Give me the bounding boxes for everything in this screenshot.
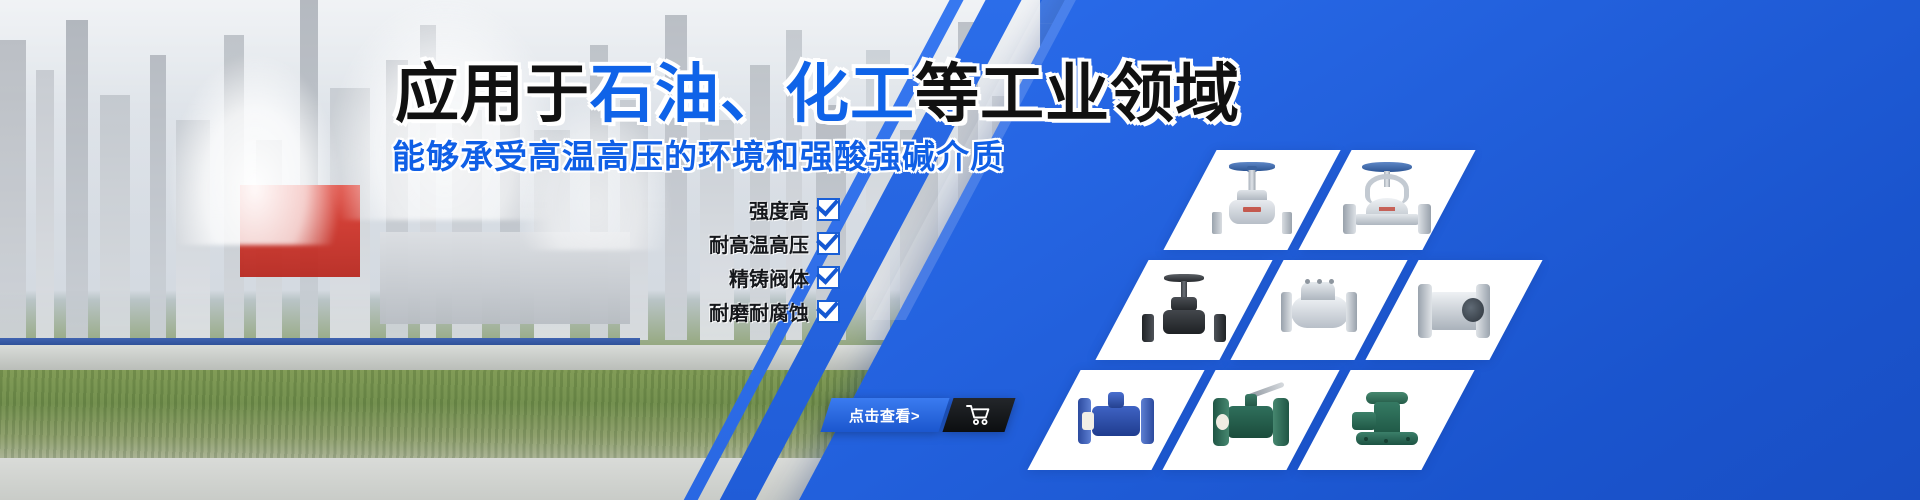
view-details-button[interactable]: 点击查看> bbox=[820, 398, 949, 432]
feature-item: 耐磨耐腐蚀 bbox=[709, 297, 840, 326]
globe-valve-image bbox=[1325, 150, 1449, 250]
feature-item: 耐高温高压 bbox=[709, 229, 840, 258]
base-bolt bbox=[1406, 437, 1410, 441]
valve-body bbox=[1291, 296, 1349, 328]
valve-lining bbox=[1082, 412, 1094, 430]
valve-flange-left bbox=[1418, 284, 1432, 338]
cta-label: 点击查看> bbox=[849, 405, 920, 426]
checkbox-checked-icon bbox=[817, 300, 840, 323]
valve-pipe bbox=[1355, 214, 1419, 225]
cover-bolt bbox=[1305, 279, 1310, 284]
headline-part-1: 应用于 bbox=[395, 58, 590, 130]
base-bolt bbox=[1384, 439, 1388, 443]
valve-body bbox=[1092, 406, 1140, 436]
shopping-cart-icon bbox=[966, 404, 992, 426]
checkbox-checked-icon bbox=[817, 198, 840, 221]
checkbox-checked-icon bbox=[817, 266, 840, 289]
gate-valve-handwheel-image bbox=[1190, 150, 1314, 250]
cart-button[interactable] bbox=[942, 398, 1015, 432]
feature-checklist: 强度高 耐高温高压 精铸阀体 耐磨耐腐蚀 bbox=[640, 195, 840, 326]
lever-ball-valve-image bbox=[1189, 370, 1313, 470]
feature-item: 精铸阀体 bbox=[729, 263, 840, 292]
feature-label: 耐高温高压 bbox=[709, 229, 809, 258]
banner-headline: 应用于石油、化工等工业领域 bbox=[395, 62, 1240, 126]
feature-label: 耐磨耐腐蚀 bbox=[709, 297, 809, 326]
cover-bolt bbox=[1317, 279, 1322, 284]
promo-banner: 应用于石油、化工等工业领域 能够承受高温高压的环境和强酸强碱介质 强度高 耐高温… bbox=[0, 0, 1920, 500]
feature-item: 强度高 bbox=[749, 195, 840, 224]
forged-gate-valve-image bbox=[1122, 260, 1246, 360]
valve-lining bbox=[1216, 414, 1229, 430]
valve-body bbox=[1163, 310, 1205, 334]
feature-label: 强度高 bbox=[749, 195, 809, 224]
valve-stem bbox=[1249, 170, 1256, 192]
side-actuator bbox=[1352, 412, 1376, 430]
valve-flange-right bbox=[1273, 398, 1289, 446]
valve-bonnet bbox=[1171, 297, 1197, 311]
valve-cover bbox=[1301, 282, 1335, 300]
feature-label: 精铸阀体 bbox=[729, 263, 809, 292]
valve-bore bbox=[1462, 298, 1484, 322]
base-bolt bbox=[1364, 437, 1368, 441]
valve-column bbox=[1374, 402, 1400, 436]
product-tile-grid bbox=[1040, 150, 1470, 490]
steam-plume bbox=[170, 55, 340, 245]
valve-flange-right bbox=[1214, 314, 1226, 342]
valve-body bbox=[1227, 406, 1273, 438]
swing-check-valve-image bbox=[1257, 260, 1381, 360]
valve-flange-left bbox=[1142, 314, 1154, 342]
headline-highlight: 石油、化工 bbox=[590, 58, 915, 130]
headline-part-3: 等工业领域 bbox=[915, 58, 1240, 130]
valve-flange-left bbox=[1212, 212, 1222, 234]
valve-flange-right bbox=[1346, 292, 1357, 332]
valve-flange-left bbox=[1281, 292, 1292, 332]
cta-button-group[interactable]: 点击查看> bbox=[826, 398, 1010, 432]
lined-ball-valve-image bbox=[1054, 370, 1178, 470]
valve-flange-left bbox=[1343, 204, 1356, 234]
flanged-riser-valve-image bbox=[1324, 370, 1448, 470]
valve-flange-right bbox=[1141, 398, 1154, 444]
cover-bolt bbox=[1329, 279, 1334, 284]
checkbox-checked-icon bbox=[817, 232, 840, 255]
valve-actuator-mount bbox=[1108, 392, 1124, 408]
valve-flange-right bbox=[1418, 204, 1431, 234]
banner-subheadline: 能够承受高温高压的环境和强酸强碱介质 bbox=[392, 140, 1004, 173]
valve-flange-right bbox=[1282, 212, 1292, 234]
valve-body bbox=[1229, 200, 1275, 224]
